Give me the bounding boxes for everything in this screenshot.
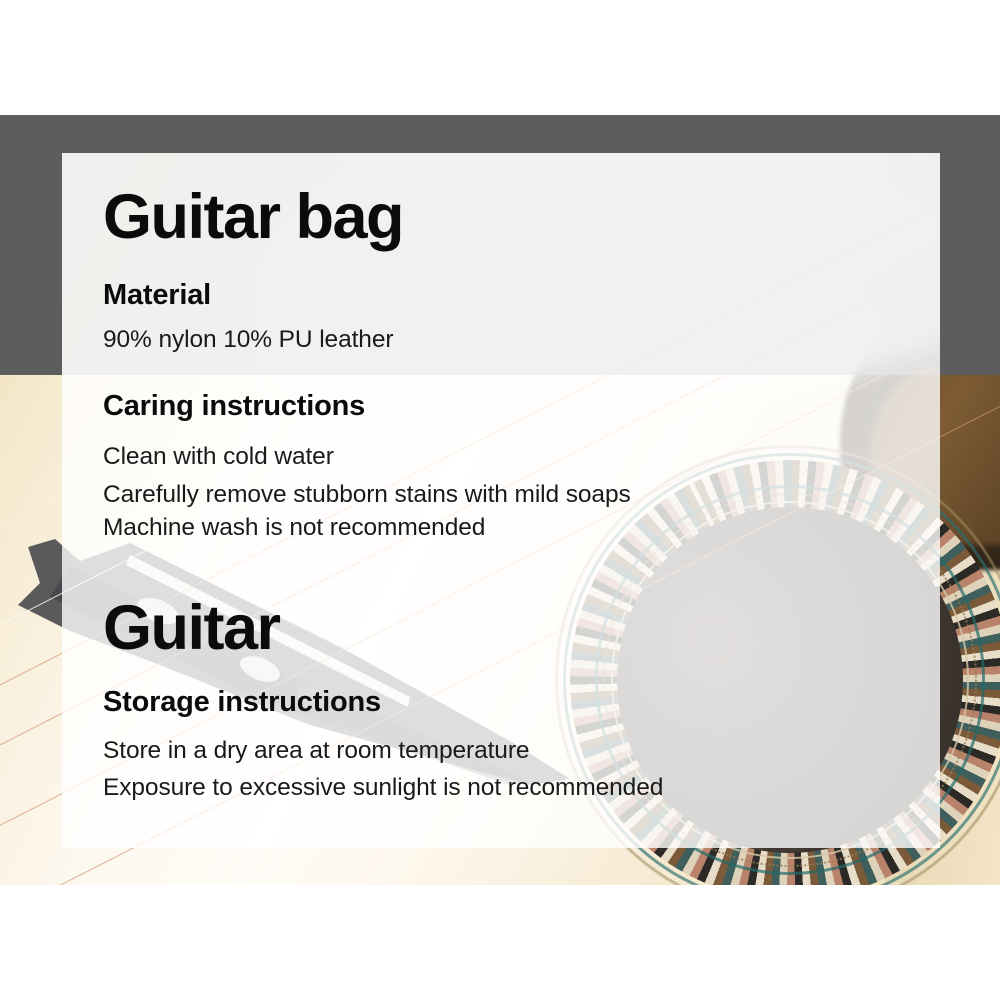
heading-guitar-bag: Guitar bag (103, 186, 403, 249)
caring-line-2: Carefully remove stubborn stains with mi… (103, 483, 631, 508)
subheading-storage-instructions: Storage instructions (103, 688, 381, 717)
heading-guitar: Guitar (103, 597, 280, 660)
storage-line-1: Store in a dry area at room temperature (103, 739, 529, 764)
storage-line-2: Exposure to excessive sunlight is not re… (103, 776, 663, 801)
caring-line-1: Clean with cold water (103, 445, 334, 470)
product-info-image: Guitar bag Material 90% nylon 10% PU lea… (0, 0, 1000, 1000)
caring-line-3: Machine wash is not recommended (103, 516, 485, 541)
subheading-material: Material (103, 281, 211, 310)
material-line-1: 90% nylon 10% PU leather (103, 328, 393, 353)
subheading-caring-instructions: Caring instructions (103, 392, 365, 421)
